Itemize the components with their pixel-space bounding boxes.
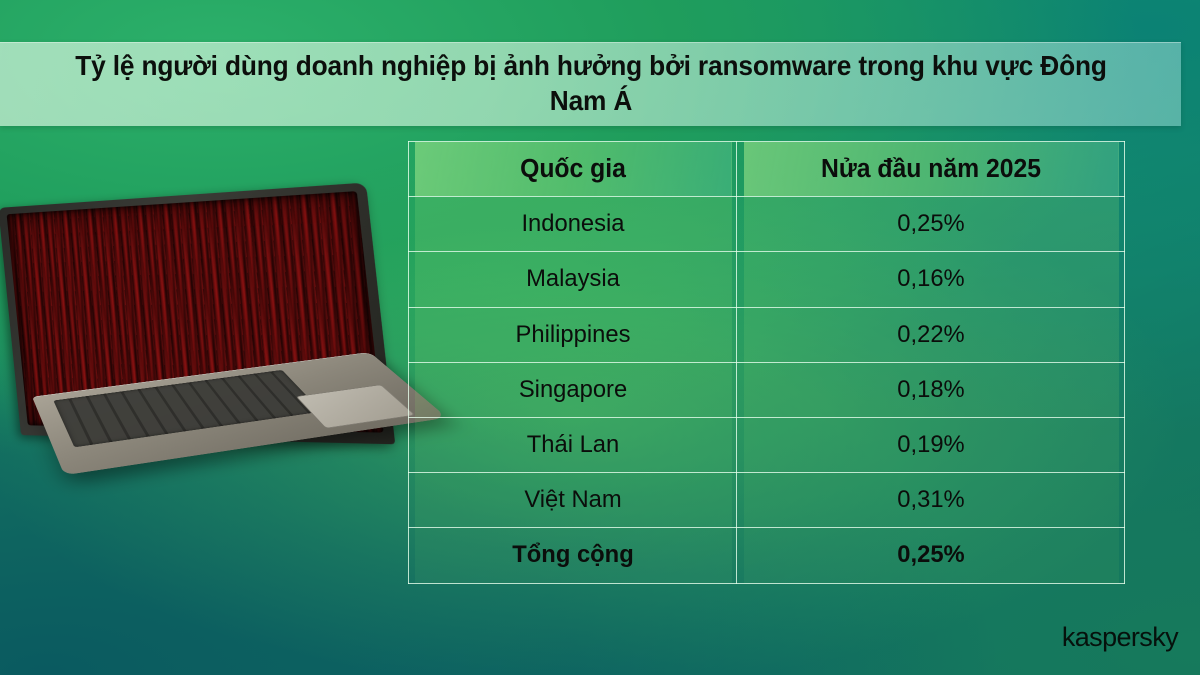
table-row: Thái Lan 0,19% (409, 417, 1125, 472)
cell-value: 0,18% (742, 362, 1118, 417)
cell-country: Philippines (413, 307, 731, 362)
cell-country: Indonesia (413, 197, 731, 252)
cell-country: Singapore (413, 362, 731, 417)
table-row: Philippines 0,22% (409, 307, 1125, 362)
cell-value: 0,25% (742, 197, 1118, 252)
laptop-illustration (14, 196, 444, 586)
table-header-row: Quốc gia Nửa đầu năm 2025 (409, 142, 1125, 197)
ransomware-stats-table: Quốc gia Nửa đầu năm 2025 Indonesia 0,25… (408, 141, 1124, 583)
column-header-country: Quốc gia (413, 142, 731, 197)
laptop-graphic (9, 191, 448, 591)
cell-value: 0,16% (742, 252, 1118, 307)
table-total-row: Tổng cộng 0,25% (409, 528, 1125, 583)
cell-country: Malaysia (413, 252, 731, 307)
cell-country: Việt Nam (413, 473, 731, 528)
table-row: Singapore 0,18% (409, 362, 1125, 417)
cell-value: 0,31% (742, 473, 1118, 528)
laptop-trackpad (296, 385, 416, 429)
column-header-period: Nửa đầu năm 2025 (742, 142, 1118, 197)
table-row: Indonesia 0,25% (409, 197, 1125, 252)
title-banner: Tỷ lệ người dùng doanh nghiệp bị ảnh hưở… (0, 42, 1181, 126)
kaspersky-logo: kaspersky (1062, 622, 1178, 653)
cell-country: Thái Lan (413, 417, 731, 472)
cell-value: 0,19% (742, 417, 1118, 472)
cell-total-label: Tổng cộng (413, 528, 731, 583)
page-title: Tỷ lệ người dùng doanh nghiệp bị ảnh hưở… (32, 49, 1149, 118)
table-row: Malaysia 0,16% (409, 252, 1125, 307)
table-row: Việt Nam 0,31% (409, 473, 1125, 528)
cell-value: 0,22% (742, 307, 1118, 362)
stats-table: Quốc gia Nửa đầu năm 2025 Indonesia 0,25… (408, 141, 1125, 584)
cell-total-value: 0,25% (742, 528, 1118, 583)
